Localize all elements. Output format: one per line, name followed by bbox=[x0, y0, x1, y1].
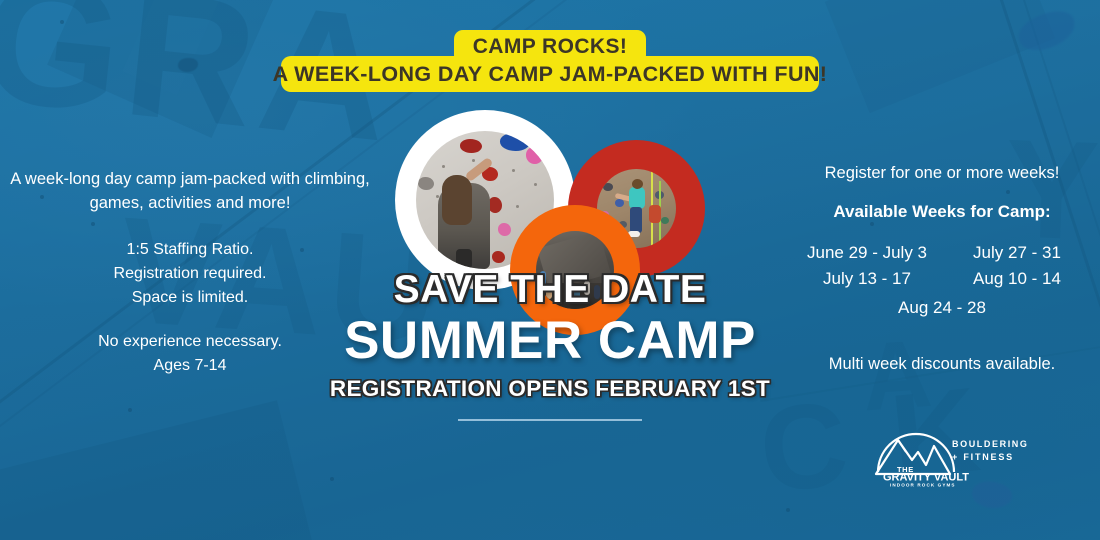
week-option: June 29 - July 3 bbox=[805, 240, 929, 266]
camp-lead-text: A week-long day camp jam-packed with cli… bbox=[6, 168, 374, 216]
wall-bolt-hole bbox=[512, 169, 515, 172]
climbing-hold bbox=[603, 183, 613, 191]
climbing-hold bbox=[526, 147, 543, 164]
headline-divider bbox=[458, 419, 642, 421]
climber-legs bbox=[630, 207, 642, 233]
climber-body bbox=[629, 187, 645, 209]
climbing-hold bbox=[418, 177, 434, 190]
logo-tagline-line-2: + FITNESS bbox=[952, 451, 1029, 464]
logo-tagline-line-1: BOULDERING bbox=[952, 438, 1029, 451]
climbing-hold bbox=[615, 199, 624, 207]
climber-leg bbox=[456, 249, 472, 269]
register-prompt-text: Register for one or more weeks! bbox=[790, 162, 1094, 186]
wall-bolt-hole bbox=[442, 165, 445, 168]
climbing-hold bbox=[500, 133, 530, 151]
second-climber bbox=[649, 205, 661, 223]
wall-bolt-hole bbox=[534, 183, 537, 186]
available-weeks-heading: Available Weeks for Camp: bbox=[790, 202, 1094, 222]
banner-line-2: A WEEK-LONG DAY CAMP JAM-PACKED WITH FUN… bbox=[281, 56, 819, 92]
spacer bbox=[790, 186, 1094, 202]
wall-bolt-hole bbox=[472, 159, 475, 162]
logo-tagline: BOULDERING + FITNESS bbox=[952, 438, 1029, 464]
climber-hair bbox=[442, 175, 472, 225]
registration-opens-text: REGISTRATION OPENS FEBRUARY 1ST bbox=[0, 376, 1100, 402]
weeks-row: June 29 - July 3 July 27 - 31 bbox=[790, 240, 1094, 266]
climbing-hold bbox=[488, 197, 502, 213]
climbing-hold bbox=[460, 139, 482, 153]
climbing-hold bbox=[661, 217, 669, 224]
wall-bolt-hole bbox=[516, 205, 519, 208]
main-headline: SAVE THE DATE SUMMER CAMP REGISTRATION O… bbox=[0, 270, 1100, 421]
climber-head bbox=[632, 179, 643, 189]
spacer bbox=[6, 216, 374, 238]
week-option: July 27 - 31 bbox=[955, 240, 1079, 266]
summer-camp-poster: GRA VAU Y C K A CAMP ROCKS! A WEEK-LONG … bbox=[0, 0, 1100, 540]
svg-text:INDOOR ROCK GYMS: INDOOR ROCK GYMS bbox=[890, 483, 956, 488]
climbing-hold bbox=[498, 223, 511, 236]
climbing-hold bbox=[492, 251, 505, 263]
save-the-date-title: SAVE THE DATE bbox=[0, 270, 1100, 309]
gravity-vault-logo: THE GRAVITY VAULT INDOOR ROCK GYMS BOULD… bbox=[868, 416, 1028, 494]
summer-camp-title: SUMMER CAMP bbox=[0, 314, 1100, 367]
staffing-ratio-text: 1:5 Staffing Ratio. bbox=[6, 238, 374, 262]
